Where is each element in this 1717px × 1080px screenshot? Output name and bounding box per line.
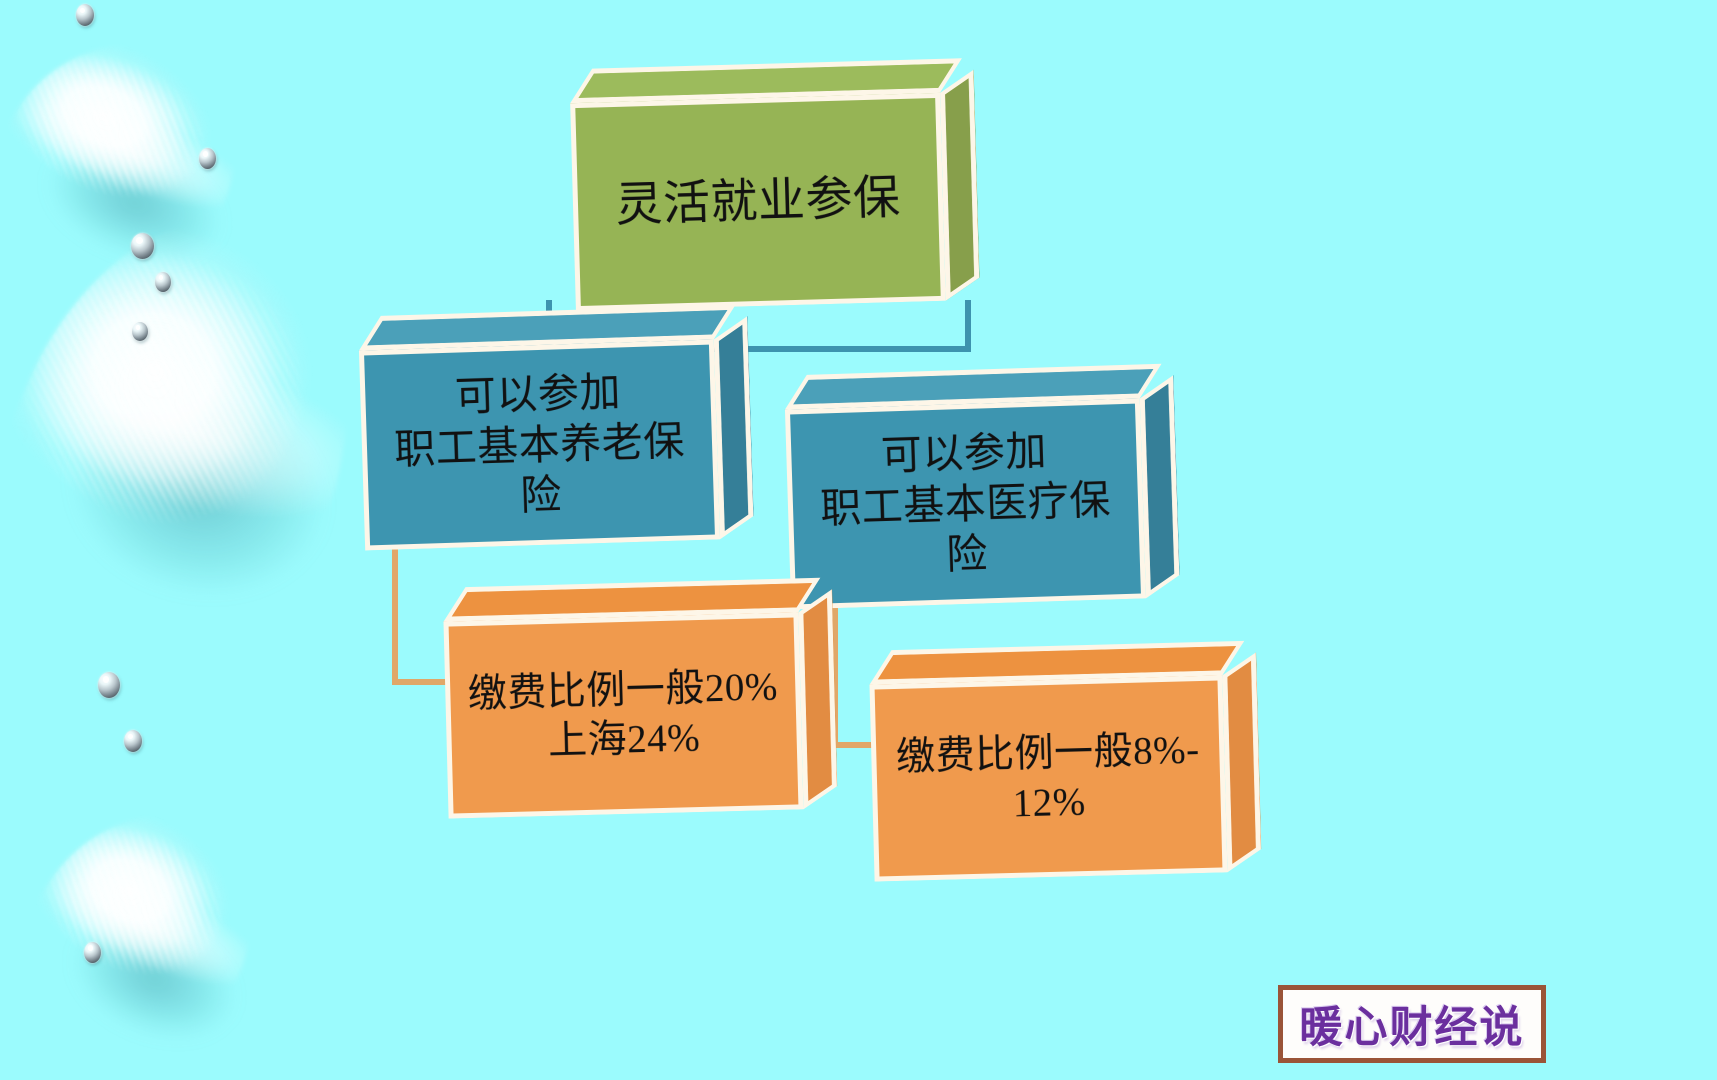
feather-barbs: [0, 176, 393, 644]
node-side-face: [1140, 375, 1180, 598]
feather-bottom-left: [8, 777, 286, 1052]
node-pension-rate-line1: 缴费比例一般20%: [467, 663, 778, 719]
feather-plume: [8, 777, 286, 1052]
feather-top-left: [0, 7, 267, 274]
node-medical-rate[interactable]: 缴费比例一般8%- 12%: [869, 675, 1227, 881]
feather-shadow: [0, 49, 279, 316]
glitter-bead: [199, 148, 216, 169]
glitter-bead: [155, 272, 171, 292]
feather-plume: [0, 176, 393, 644]
node-side-face: [714, 316, 754, 539]
feather-barbs: [0, 7, 267, 274]
glitter-bead: [132, 322, 148, 341]
watermark-text: 暖心财经说: [1300, 993, 1525, 1055]
node-label: 灵活就业参保: [570, 93, 946, 311]
node-pension-rate-line2: 上海24%: [548, 714, 701, 766]
node-side-face: [798, 589, 837, 809]
node-medical[interactable]: 可以参加 职工基本医疗保险: [785, 398, 1146, 609]
glitter-bead: [124, 730, 142, 752]
node-pension-line2: 职工基本养老保险: [376, 414, 704, 526]
node-side-face: [1222, 652, 1261, 872]
feather-plume: [0, 7, 267, 274]
node-root[interactable]: 灵活就业参保: [570, 93, 946, 311]
node-medical-rate-line2: 12%: [1012, 778, 1086, 828]
node-pension[interactable]: 可以参加 职工基本养老保险: [359, 339, 720, 550]
node-label: 可以参加 职工基本医疗保险: [785, 398, 1146, 609]
feather-shadow: [0, 217, 410, 685]
connector-pension-to-rate: [392, 545, 448, 685]
node-medical-rate-line1: 缴费比例一般8%-: [896, 726, 1201, 782]
node-root-text: 灵活就业参保: [615, 169, 902, 235]
glitter-bead: [131, 233, 154, 259]
feather-barbs: [8, 777, 286, 1052]
feather-shadow: [19, 820, 297, 1080]
glitter-bead: [84, 942, 101, 963]
node-side-face: [940, 70, 979, 301]
watermark-badge: 暖心财经说: [1278, 985, 1546, 1063]
glitter-bead: [98, 672, 120, 698]
node-label: 缴费比例一般20% 上海24%: [443, 612, 803, 818]
node-label: 可以参加 职工基本养老保险: [359, 339, 720, 550]
glitter-bead: [76, 4, 94, 26]
node-medical-line1: 可以参加: [880, 425, 1048, 481]
node-pension-rate[interactable]: 缴费比例一般20% 上海24%: [443, 612, 803, 818]
feather-middle-left: [0, 176, 393, 644]
node-pension-line1: 可以参加: [454, 366, 622, 422]
node-label: 缴费比例一般8%- 12%: [869, 675, 1227, 881]
node-medical-line2: 职工基本医疗保险: [802, 473, 1130, 585]
slide-canvas: 灵活就业参保 可以参加 职工基本养老保险 可以参加 职工基本医疗保险 缴费比例一…: [0, 0, 1717, 1080]
